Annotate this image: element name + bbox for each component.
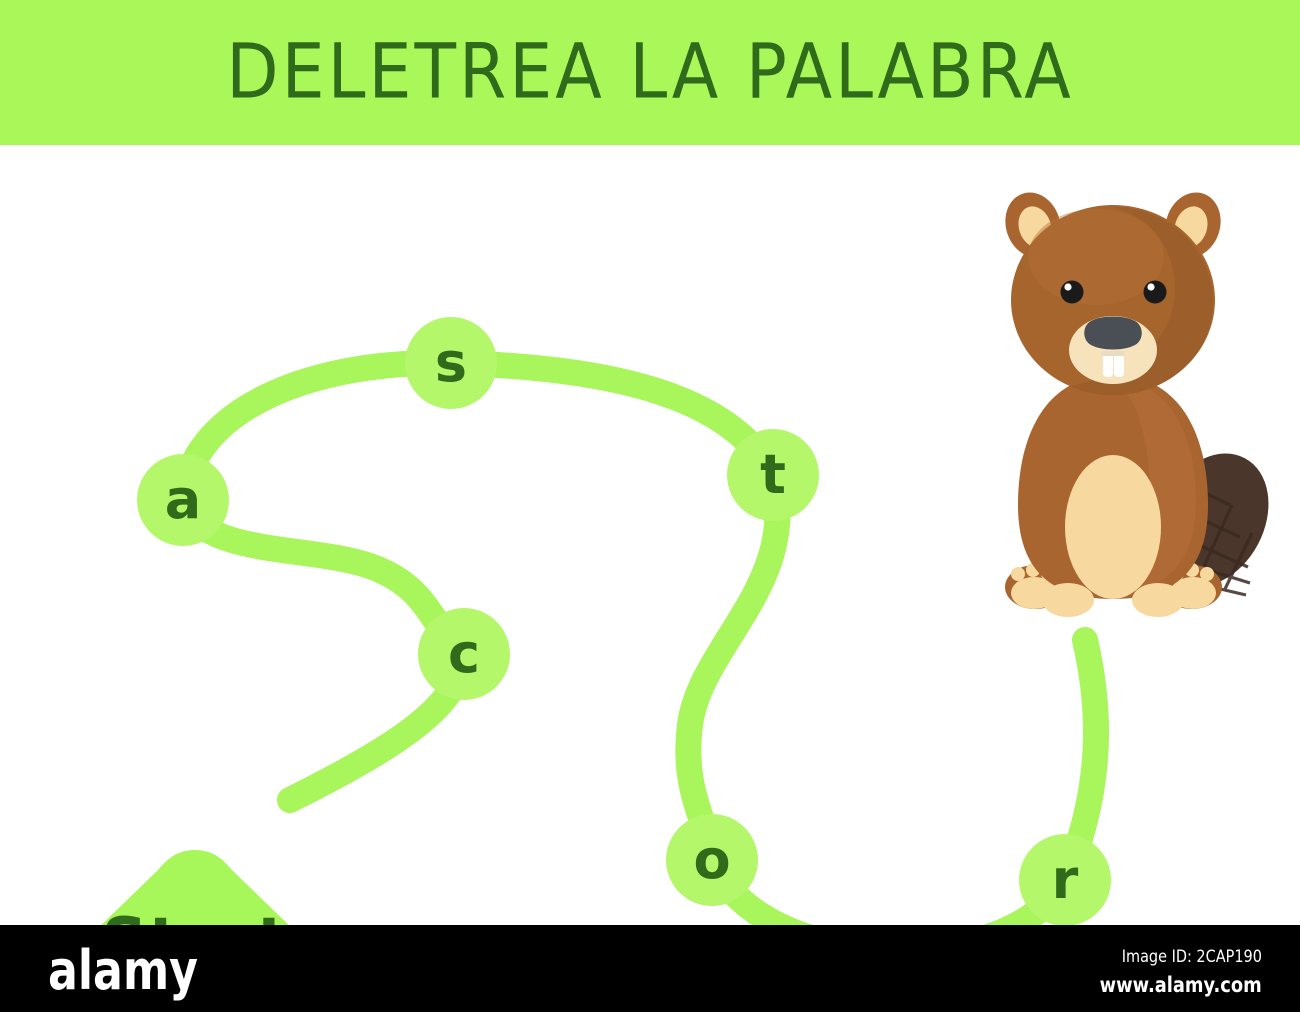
beaver-illustration: [997, 185, 1291, 617]
node-circle-o[interactable]: [666, 814, 758, 906]
letter-node-circles: [137, 317, 1111, 925]
path-a-to-c: [183, 500, 464, 654]
maze-diagram: [0, 145, 1300, 925]
alamy-url-text: www.alamy.com: [1100, 973, 1262, 997]
image-id-text: Image ID: 2CAP190: [1122, 947, 1262, 967]
watermark-footer: alamy Image ID: 2CAP190 www.alamy.com: [0, 925, 1300, 1012]
path-o-to-r: [712, 860, 1065, 925]
maze-area: s a c t o r Start: [0, 145, 1300, 925]
alamy-logo: alamy: [48, 939, 198, 1002]
node-circle-c[interactable]: [418, 608, 510, 700]
header-band: DELETREA LA PALABRA: [0, 0, 1300, 145]
node-circle-r[interactable]: [1019, 834, 1111, 925]
path-s-to-t: [451, 363, 773, 475]
beaver-body-icon: [1018, 375, 1208, 599]
node-circle-t[interactable]: [727, 429, 819, 521]
node-circle-a[interactable]: [137, 454, 229, 546]
worksheet-page: DELETREA LA PALABRA: [0, 0, 1300, 1012]
path-t-to-o: [688, 475, 777, 860]
maze-path-group: [183, 363, 1096, 925]
node-circle-s[interactable]: [405, 317, 497, 409]
page-title: DELETREA LA PALABRA: [226, 28, 1073, 116]
beaver-muzzle-icon: [1069, 316, 1157, 384]
